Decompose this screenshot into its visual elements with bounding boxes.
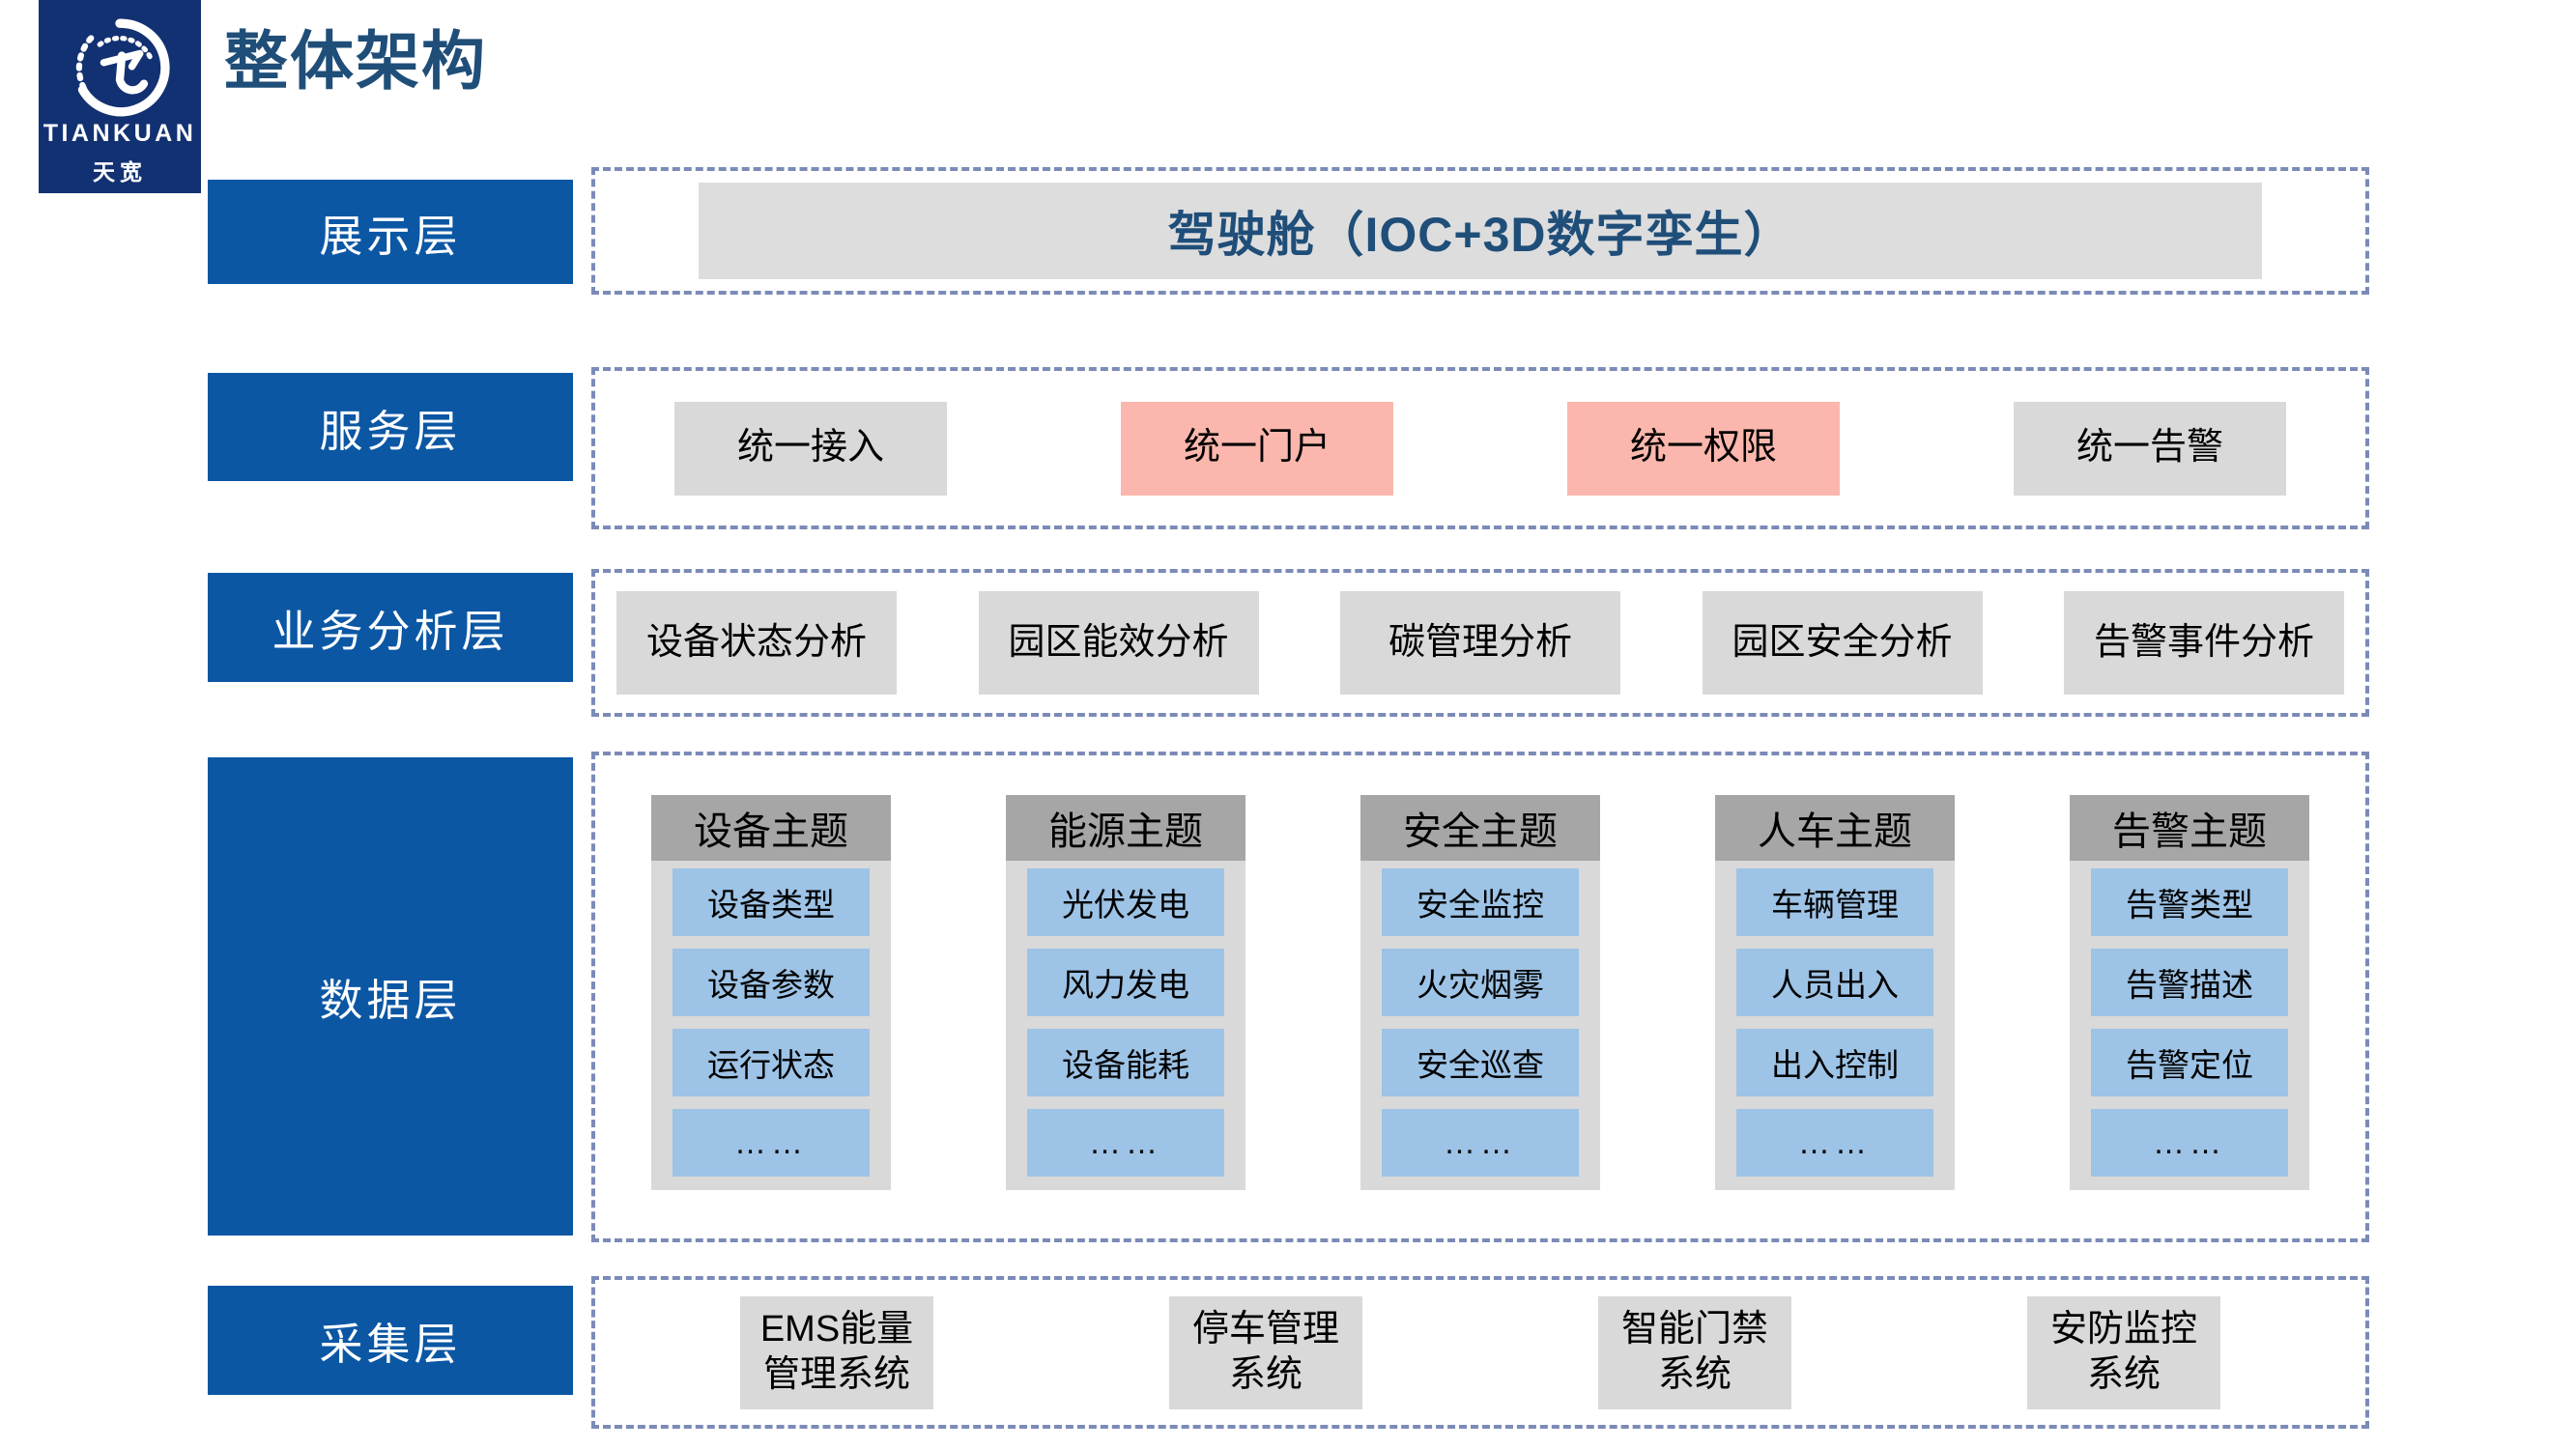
layer-panel-collect: EMS能量 管理系统 停车管理 系统 智能门禁 系统 安防监控 系统: [591, 1276, 2369, 1429]
theme-items-alarm: 告警类型 告警描述 告警定位 ……: [2070, 861, 2309, 1190]
layer-panel-business: 设备状态分析 园区能效分析 碳管理分析 园区安全分析 告警事件分析: [591, 569, 2369, 717]
theme-item[interactable]: 安全监控: [1382, 868, 1579, 936]
theme-title-device: 设备主题: [651, 795, 891, 861]
theme-item-more[interactable]: ……: [1382, 1109, 1579, 1177]
theme-column-safety: 安全主题 安全监控 火灾烟雾 安全巡查 ……: [1360, 795, 1600, 1190]
collect-chip-ems[interactable]: EMS能量 管理系统: [740, 1296, 933, 1409]
theme-item-more[interactable]: ……: [673, 1109, 870, 1177]
service-chip-unified-portal[interactable]: 统一门户: [1121, 402, 1393, 496]
business-chip-park-energy[interactable]: 园区能效分析: [979, 591, 1259, 695]
theme-item[interactable]: 告警类型: [2091, 868, 2288, 936]
chip-line-1: EMS能量: [760, 1307, 913, 1353]
service-chip-unified-access[interactable]: 统一接入: [674, 402, 947, 496]
chip-line-1: 智能门禁: [1621, 1307, 1768, 1353]
brand-logo: TIANKUAN 天宽: [39, 0, 201, 193]
business-chip-carbon[interactable]: 碳管理分析: [1340, 591, 1620, 695]
theme-item[interactable]: 人员出入: [1736, 949, 1933, 1016]
theme-column-alarm: 告警主题 告警类型 告警描述 告警定位 ……: [2070, 795, 2309, 1190]
chip-line-2: 系统: [2087, 1352, 2161, 1399]
chip-line-1: 安防监控: [2050, 1307, 2197, 1353]
collect-chip-parking[interactable]: 停车管理 系统: [1169, 1296, 1362, 1409]
layer-label-data: 数据层: [208, 757, 573, 1236]
theme-items-energy: 光伏发电 风力发电 设备能耗 ……: [1006, 861, 1245, 1190]
service-chip-unified-alarm[interactable]: 统一告警: [2014, 402, 2286, 496]
cockpit-box[interactable]: 驾驶舱（IOC+3D数字孪生）: [699, 183, 2262, 279]
service-chip-unified-permission[interactable]: 统一权限: [1567, 402, 1840, 496]
page-title: 整体架构: [224, 29, 487, 93]
theme-item[interactable]: 火灾烟雾: [1382, 949, 1579, 1016]
theme-column-people-vehicle: 人车主题 车辆管理 人员出入 出入控制 ……: [1715, 795, 1955, 1190]
theme-item-more[interactable]: ……: [1736, 1109, 1933, 1177]
theme-column-device: 设备主题 设备类型 设备参数 运行状态 ……: [651, 795, 891, 1190]
layer-label-collect: 采集层: [208, 1286, 573, 1395]
layer-label-service: 服务层: [208, 373, 573, 481]
business-chip-device-status[interactable]: 设备状态分析: [616, 591, 897, 695]
brand-name-cn: 天宽: [93, 154, 147, 186]
theme-item[interactable]: 告警描述: [2091, 949, 2288, 1016]
theme-title-energy: 能源主题: [1006, 795, 1245, 861]
architecture-diagram: TIANKUAN 天宽 整体架构 展示层 驾驶舱（IOC+3D数字孪生） 服务层…: [0, 0, 2576, 1449]
business-chip-alarm-event[interactable]: 告警事件分析: [2064, 591, 2344, 695]
layer-label-display: 展示层: [208, 180, 573, 284]
theme-item[interactable]: 安全巡查: [1382, 1029, 1579, 1096]
theme-item[interactable]: 出入控制: [1736, 1029, 1933, 1096]
collect-chip-security-monitor[interactable]: 安防监控 系统: [2027, 1296, 2220, 1409]
chip-line-2: 管理系统: [763, 1352, 910, 1399]
theme-title-safety: 安全主题: [1360, 795, 1600, 861]
theme-column-energy: 能源主题 光伏发电 风力发电 设备能耗 ……: [1006, 795, 1245, 1190]
theme-title-alarm: 告警主题: [2070, 795, 2309, 861]
layer-label-business: 业务分析层: [208, 573, 573, 682]
theme-item[interactable]: 设备能耗: [1027, 1029, 1224, 1096]
theme-item[interactable]: 光伏发电: [1027, 868, 1224, 936]
chip-line-1: 停车管理: [1192, 1307, 1339, 1353]
theme-items-people-vehicle: 车辆管理 人员出入 出入控制 ……: [1715, 861, 1955, 1190]
theme-item[interactable]: 设备类型: [673, 868, 870, 936]
layer-panel-service: 统一接入 统一门户 统一权限 统一告警: [591, 367, 2369, 529]
collect-chip-access-control[interactable]: 智能门禁 系统: [1598, 1296, 1791, 1409]
tiankuan-swirl-logo-icon: [70, 17, 170, 118]
theme-items-device: 设备类型 设备参数 运行状态 ……: [651, 861, 891, 1190]
theme-item[interactable]: 告警定位: [2091, 1029, 2288, 1096]
chip-line-2: 系统: [1658, 1352, 1732, 1399]
theme-item[interactable]: 设备参数: [673, 949, 870, 1016]
theme-items-safety: 安全监控 火灾烟雾 安全巡查 ……: [1360, 861, 1600, 1190]
layer-panel-display: 驾驶舱（IOC+3D数字孪生）: [591, 167, 2369, 295]
brand-name-en: TIANKUAN: [43, 120, 197, 148]
chip-line-2: 系统: [1229, 1352, 1302, 1399]
theme-item[interactable]: 车辆管理: [1736, 868, 1933, 936]
theme-item-more[interactable]: ……: [2091, 1109, 2288, 1177]
theme-item-more[interactable]: ……: [1027, 1109, 1224, 1177]
theme-item[interactable]: 风力发电: [1027, 949, 1224, 1016]
theme-title-people-vehicle: 人车主题: [1715, 795, 1955, 861]
layer-panel-data: 设备主题 设备类型 设备参数 运行状态 …… 能源主题 光伏发电 风力发电 设备…: [591, 752, 2369, 1242]
business-chip-park-safety[interactable]: 园区安全分析: [1703, 591, 1983, 695]
theme-item[interactable]: 运行状态: [673, 1029, 870, 1096]
